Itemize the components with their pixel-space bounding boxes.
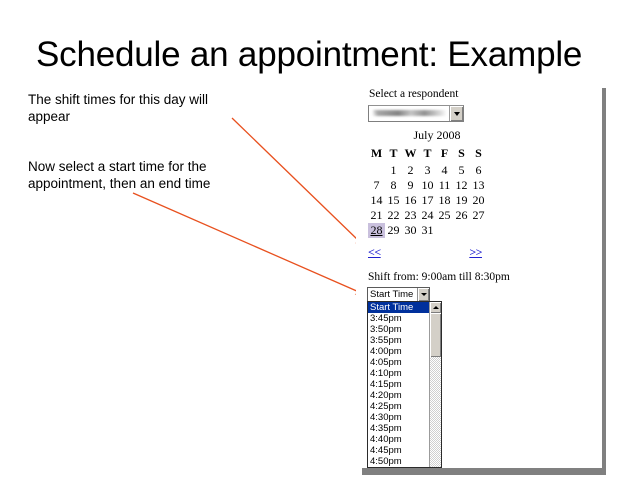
calendar-day[interactable]: 7 bbox=[368, 178, 385, 193]
calendar-day[interactable]: 2 bbox=[402, 163, 419, 178]
calendar-weekday: S bbox=[470, 146, 487, 163]
calendar-weekday: T bbox=[419, 146, 436, 163]
dropdown-scrollbar[interactable] bbox=[429, 302, 441, 467]
calendar-day[interactable]: 16 bbox=[402, 193, 419, 208]
calendar-day[interactable]: 21 bbox=[368, 208, 385, 223]
start-time-option[interactable]: 4:25pm bbox=[368, 401, 429, 412]
calendar-day[interactable]: 9 bbox=[402, 178, 419, 193]
annotation-shift-times: The shift times for this day will appear bbox=[28, 91, 243, 126]
calendar-week-row: 7 8 9 10 11 12 13 bbox=[368, 178, 487, 193]
calendar-day bbox=[453, 223, 470, 238]
calendar-day[interactable]: 22 bbox=[385, 208, 402, 223]
calendar-day[interactable]: 8 bbox=[385, 178, 402, 193]
calendar-day[interactable]: 25 bbox=[436, 208, 453, 223]
start-time-option[interactable]: 4:05pm bbox=[368, 357, 429, 368]
calendar-day[interactable]: 13 bbox=[470, 178, 487, 193]
calendar-day[interactable]: 1 bbox=[385, 163, 402, 178]
arrow-to-start-time bbox=[133, 193, 359, 292]
start-time-option[interactable]: 4:40pm bbox=[368, 434, 429, 445]
calendar-day bbox=[436, 223, 453, 238]
calendar-week-row: 21 22 23 24 25 26 27 bbox=[368, 208, 487, 223]
calendar-day[interactable]: 10 bbox=[419, 178, 436, 193]
arrow-to-shift-times bbox=[232, 118, 360, 242]
calendar-day[interactable]: 27 bbox=[470, 208, 487, 223]
respondent-select[interactable] bbox=[368, 105, 464, 122]
chevron-down-icon[interactable] bbox=[449, 106, 463, 121]
calendar-day bbox=[470, 223, 487, 238]
calendar-prev-month-link[interactable]: << bbox=[368, 245, 381, 260]
calendar-day[interactable]: 23 bbox=[402, 208, 419, 223]
calendar-week-row: 1 2 3 4 5 6 bbox=[368, 163, 487, 178]
start-time-option[interactable]: 4:00pm bbox=[368, 346, 429, 357]
start-time-select[interactable]: Start Time bbox=[367, 287, 430, 302]
respondent-selected-value bbox=[372, 110, 447, 116]
start-time-option[interactable]: 4:45pm bbox=[368, 445, 429, 456]
scrollbar-track[interactable] bbox=[430, 357, 441, 467]
calendar-day[interactable]: 20 bbox=[470, 193, 487, 208]
calendar-month-label: July 2008 bbox=[380, 128, 494, 143]
calendar-next-month-link[interactable]: >> bbox=[469, 245, 482, 260]
start-time-option[interactable]: 4:35pm bbox=[368, 423, 429, 434]
calendar-weekday: T bbox=[385, 146, 402, 163]
calendar-day[interactable]: 30 bbox=[402, 223, 419, 238]
calendar-weekday: M bbox=[368, 146, 385, 163]
calendar-day[interactable]: 31 bbox=[419, 223, 436, 238]
start-time-option[interactable]: 4:50pm bbox=[368, 456, 429, 467]
calendar-day-selected[interactable]: 28 bbox=[368, 223, 385, 238]
calendar-day[interactable]: 3 bbox=[419, 163, 436, 178]
calendar-day[interactable]: 24 bbox=[419, 208, 436, 223]
calendar-weekday-row: M T W T F S S bbox=[368, 146, 487, 163]
start-time-option[interactable]: 3:50pm bbox=[368, 324, 429, 335]
calendar-day[interactable]: 12 bbox=[453, 178, 470, 193]
calendar-day bbox=[368, 163, 385, 178]
panel-shadow-bottom bbox=[362, 468, 606, 475]
chevron-down-icon[interactable] bbox=[417, 288, 429, 301]
calendar-weekday: F bbox=[436, 146, 453, 163]
shift-hours-text: Shift from: 9:00am till 8:30pm bbox=[368, 271, 510, 283]
start-time-option-list[interactable]: Start Time 3:45pm 3:50pm 3:55pm 4:00pm 4… bbox=[368, 302, 429, 467]
chevron-up-icon[interactable] bbox=[430, 302, 441, 313]
calendar-nav: << >> bbox=[368, 245, 482, 260]
respondent-label: Select a respondent bbox=[369, 88, 458, 100]
calendar-week-row: 28 29 30 31 bbox=[368, 223, 487, 238]
start-time-option[interactable]: 3:45pm bbox=[368, 313, 429, 324]
calendar-day[interactable]: 15 bbox=[385, 193, 402, 208]
chevron-down-glyph bbox=[454, 112, 460, 116]
start-time-selected-value: Start Time bbox=[368, 288, 417, 301]
start-time-option[interactable]: 4:30pm bbox=[368, 412, 429, 423]
calendar-week-row: 14 15 16 17 18 19 20 bbox=[368, 193, 487, 208]
annotation-select-start-time: Now select a start time for the appointm… bbox=[28, 158, 243, 193]
page-title: Schedule an appointment: Example bbox=[36, 36, 616, 75]
chevron-down-glyph bbox=[421, 293, 427, 296]
start-time-option[interactable]: 4:10pm bbox=[368, 368, 429, 379]
calendar-day[interactable]: 18 bbox=[436, 193, 453, 208]
calendar-day[interactable]: 14 bbox=[368, 193, 385, 208]
start-time-option[interactable]: 3:55pm bbox=[368, 335, 429, 346]
appointment-form-panel: Select a respondent July 2008 M T W T F … bbox=[356, 82, 602, 468]
start-time-option[interactable]: 4:15pm bbox=[368, 379, 429, 390]
start-time-dropdown-list[interactable]: Start Time 3:45pm 3:50pm 3:55pm 4:00pm 4… bbox=[367, 301, 442, 468]
calendar-day[interactable]: 26 bbox=[453, 208, 470, 223]
start-time-option-selected[interactable]: Start Time bbox=[368, 302, 429, 313]
scrollbar-thumb[interactable] bbox=[430, 313, 441, 357]
calendar-day[interactable]: 4 bbox=[436, 163, 453, 178]
calendar-day[interactable]: 11 bbox=[436, 178, 453, 193]
calendar-day[interactable]: 17 bbox=[419, 193, 436, 208]
calendar-weekday: S bbox=[453, 146, 470, 163]
calendar-day[interactable]: 5 bbox=[453, 163, 470, 178]
calendar-weekday: W bbox=[402, 146, 419, 163]
calendar-widget: July 2008 M T W T F S S 1 2 3 bbox=[368, 128, 494, 238]
start-time-option[interactable]: 4:20pm bbox=[368, 390, 429, 401]
chevron-up-glyph bbox=[433, 306, 439, 309]
calendar-day[interactable]: 6 bbox=[470, 163, 487, 178]
calendar-day[interactable]: 19 bbox=[453, 193, 470, 208]
calendar-day[interactable]: 29 bbox=[385, 223, 402, 238]
calendar-table: M T W T F S S 1 2 3 4 5 6 bbox=[368, 146, 487, 238]
